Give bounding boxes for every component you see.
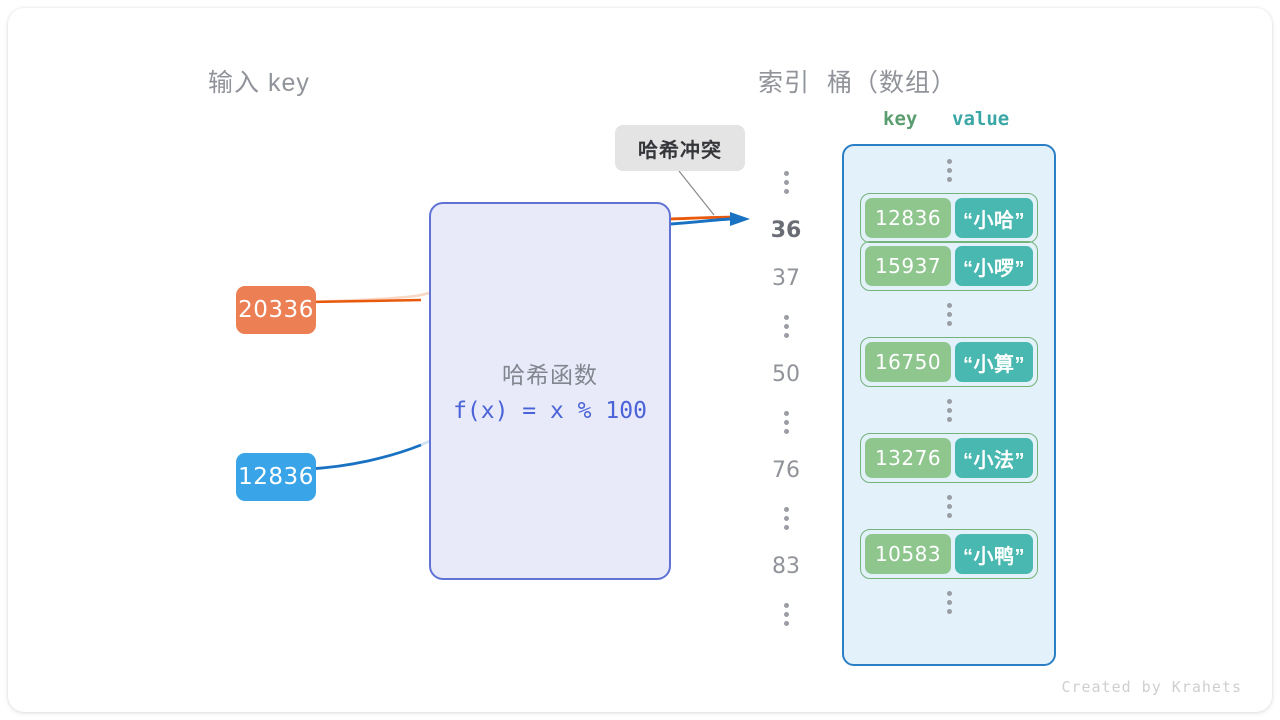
vertical-dots-icon	[947, 159, 952, 182]
index-value: 83	[772, 554, 800, 579]
diagram-card: 输入 key 索引 桶（数组） key value 20336 12836 哈希…	[8, 8, 1272, 712]
key-value-pair[interactable]: 12836“小哈”	[860, 193, 1038, 243]
index-value: 37	[772, 266, 800, 291]
index-label-83: 83	[760, 542, 812, 590]
entry-value: “小算”	[955, 342, 1033, 382]
entry-key: 12836	[865, 198, 951, 238]
vertical-dots-icon	[947, 303, 952, 326]
callout-leader-line	[679, 171, 714, 215]
index-value: 76	[772, 458, 800, 483]
vertical-dots-icon	[947, 591, 952, 614]
index-ellipsis	[760, 158, 812, 206]
key-value-pair[interactable]: 16750“小算”	[860, 337, 1038, 387]
heading-key: key	[883, 108, 917, 130]
entry-value: “小哈”	[955, 198, 1033, 238]
bucket-ellipsis	[947, 578, 952, 626]
key-value-pair[interactable]: 15937“小啰”	[860, 241, 1038, 291]
index-ellipsis	[760, 494, 812, 542]
hash-function-title: 哈希函数	[431, 356, 669, 390]
index-ellipsis	[760, 590, 812, 638]
bucket-entry: 10583“小鸭”	[860, 530, 1038, 578]
key-value-pair[interactable]: 10583“小鸭”	[860, 529, 1038, 579]
blue-curve-exit	[671, 219, 730, 224]
index-ellipsis	[760, 398, 812, 446]
heading-input-key: 输入 key	[208, 63, 310, 99]
blue-curve	[308, 445, 421, 469]
bucket-ellipsis	[947, 146, 952, 194]
index-label-37: 37	[760, 254, 812, 302]
entry-key: 16750	[865, 342, 951, 382]
vertical-dots-icon	[784, 171, 789, 194]
orange-curve	[308, 300, 421, 302]
hash-function-formula: f(x) = x % 100	[431, 398, 669, 424]
key-value-pair[interactable]: 13276“小法”	[860, 433, 1038, 483]
heading-bucket: 桶（数组）	[827, 63, 957, 99]
input-key-chip-20336[interactable]: 20336	[236, 286, 316, 334]
entry-value: “小啰”	[955, 246, 1033, 286]
index-ellipsis	[760, 302, 812, 350]
index-column: 3637507683	[760, 158, 812, 638]
hash-collision-callout: 哈希冲突	[615, 125, 745, 171]
bucket-entry: 15937“小啰”	[860, 242, 1038, 290]
hash-function-box: 哈希函数 f(x) = x % 100	[429, 202, 671, 580]
vertical-dots-icon	[947, 399, 952, 422]
bucket-ellipsis	[947, 290, 952, 338]
vertical-dots-icon	[784, 411, 789, 434]
vertical-dots-icon	[784, 507, 789, 530]
index-label-76: 76	[760, 446, 812, 494]
vertical-dots-icon	[947, 495, 952, 518]
index-value: 36	[771, 218, 802, 243]
bucket-array: 12836“小哈”15937“小啰”16750“小算”13276“小法”1058…	[842, 144, 1056, 666]
credit-text: Created by Krahets	[1061, 678, 1242, 696]
bucket-entry: 13276“小法”	[860, 434, 1038, 482]
entry-value: “小法”	[955, 438, 1033, 478]
vertical-dots-icon	[784, 603, 789, 626]
index-label-50: 50	[760, 350, 812, 398]
bucket-entry: 16750“小算”	[860, 338, 1038, 386]
heading-value: value	[952, 108, 1009, 130]
bucket-ellipsis	[947, 482, 952, 530]
bucket-ellipsis	[947, 386, 952, 434]
arrow-head-index36	[730, 212, 750, 226]
vertical-dots-icon	[784, 315, 789, 338]
index-label-36: 36	[760, 206, 812, 254]
index-value: 50	[772, 362, 800, 387]
orange-curve-exit	[671, 217, 736, 219]
entry-key: 15937	[865, 246, 951, 286]
entry-key: 10583	[865, 534, 951, 574]
heading-index: 索引	[758, 63, 810, 99]
bucket-entry: 12836“小哈”	[860, 194, 1038, 242]
entry-value: “小鸭”	[955, 534, 1033, 574]
entry-key: 13276	[865, 438, 951, 478]
input-key-chip-12836[interactable]: 12836	[236, 453, 316, 501]
